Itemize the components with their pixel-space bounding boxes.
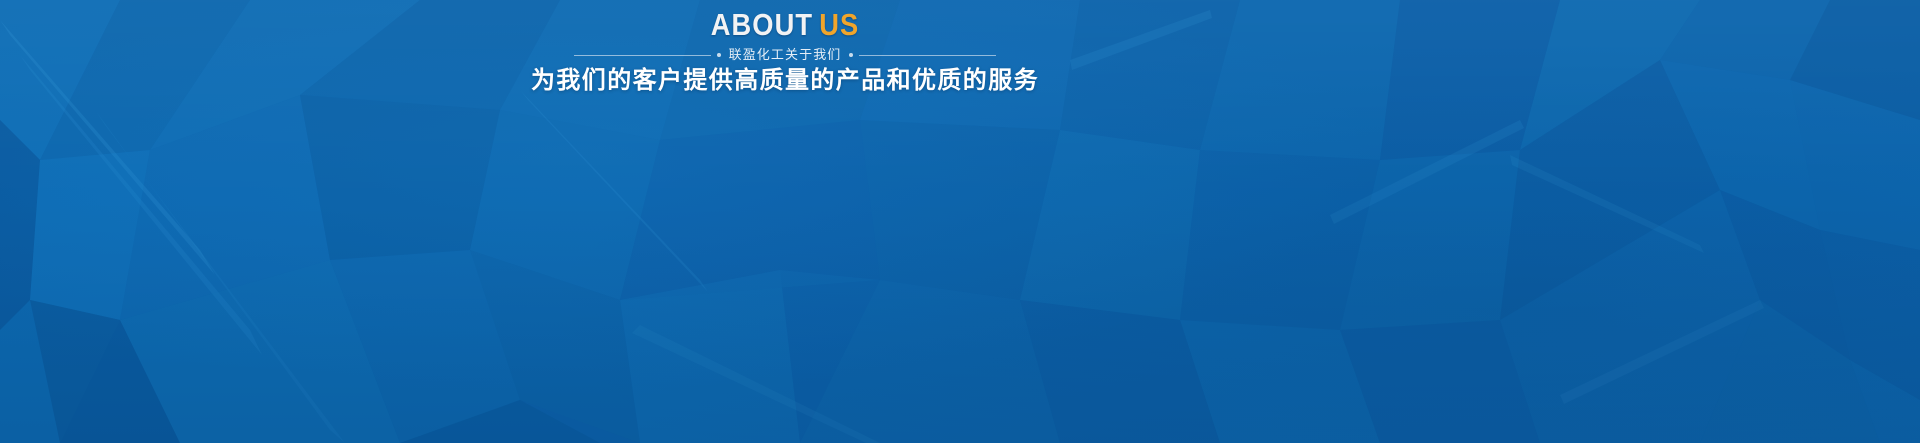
dot-marker-icon-left	[717, 53, 721, 57]
dot-marker-icon-right	[849, 53, 853, 57]
banner-title-english: ABOUTUS	[94, 8, 1476, 42]
divider-line-right	[859, 55, 996, 56]
banner-divider-row: 联盈化工关于我们	[0, 47, 1570, 63]
banner-subtitle-chinese: 联盈化工关于我们	[727, 47, 844, 63]
title-word-us: US	[819, 7, 859, 42]
about-us-banner: ABOUTUS 联盈化工关于我们 为我们的客户提供高质量的产品和优质的服务	[0, 0, 1920, 443]
divider-line-left	[574, 55, 711, 56]
banner-headline-chinese: 为我们的客户提供高质量的产品和优质的服务	[0, 66, 1570, 96]
banner-content: ABOUTUS 联盈化工关于我们 为我们的客户提供高质量的产品和优质的服务	[0, 0, 1570, 96]
title-word-about: ABOUT	[711, 7, 813, 42]
